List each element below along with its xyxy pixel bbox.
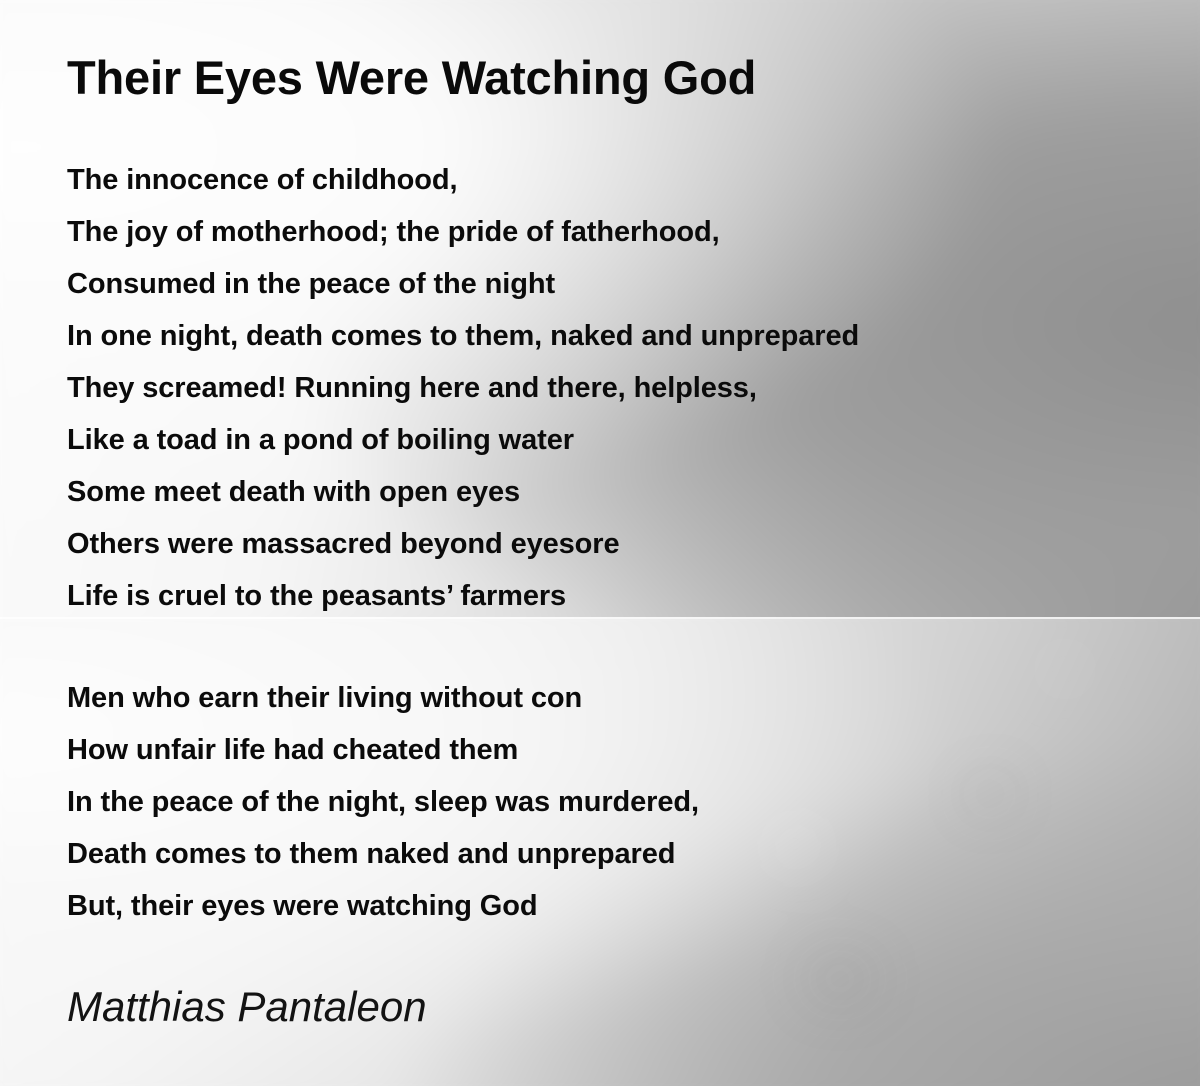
poem-line: Some meet death with open eyes xyxy=(67,466,859,518)
poem-line: Death comes to them naked and unprepared xyxy=(67,828,699,880)
poem-stanza-1: The innocence of childhood, The joy of m… xyxy=(67,154,859,622)
poem-line: Consumed in the peace of the night xyxy=(67,258,859,310)
poem-line: Like a toad in a pond of boiling water xyxy=(67,414,859,466)
poem-text-layer: Their Eyes Were Watching God The innocen… xyxy=(0,0,1200,1086)
poem-title: Their Eyes Were Watching God xyxy=(67,50,756,105)
poem-image: Their Eyes Were Watching God The innocen… xyxy=(0,0,1200,1086)
poem-line: But, their eyes were watching God xyxy=(67,880,699,932)
poem-line: Men who earn their living without con xyxy=(67,672,699,724)
poem-line: In one night, death comes to them, naked… xyxy=(67,310,859,362)
poem-stanza-2: Men who earn their living without con Ho… xyxy=(67,672,699,932)
poem-line: The joy of motherhood; the pride of fath… xyxy=(67,206,859,258)
poem-author: Matthias Pantaleon xyxy=(67,983,427,1031)
poem-line: The innocence of childhood, xyxy=(67,154,859,206)
poem-line: How unfair life had cheated them xyxy=(67,724,699,776)
poem-line: Others were massacred beyond eyesore xyxy=(67,518,859,570)
poem-line: They screamed! Running here and there, h… xyxy=(67,362,859,414)
poem-line: In the peace of the night, sleep was mur… xyxy=(67,776,699,828)
poem-line: Life is cruel to the peasants’ farmers xyxy=(67,570,859,622)
